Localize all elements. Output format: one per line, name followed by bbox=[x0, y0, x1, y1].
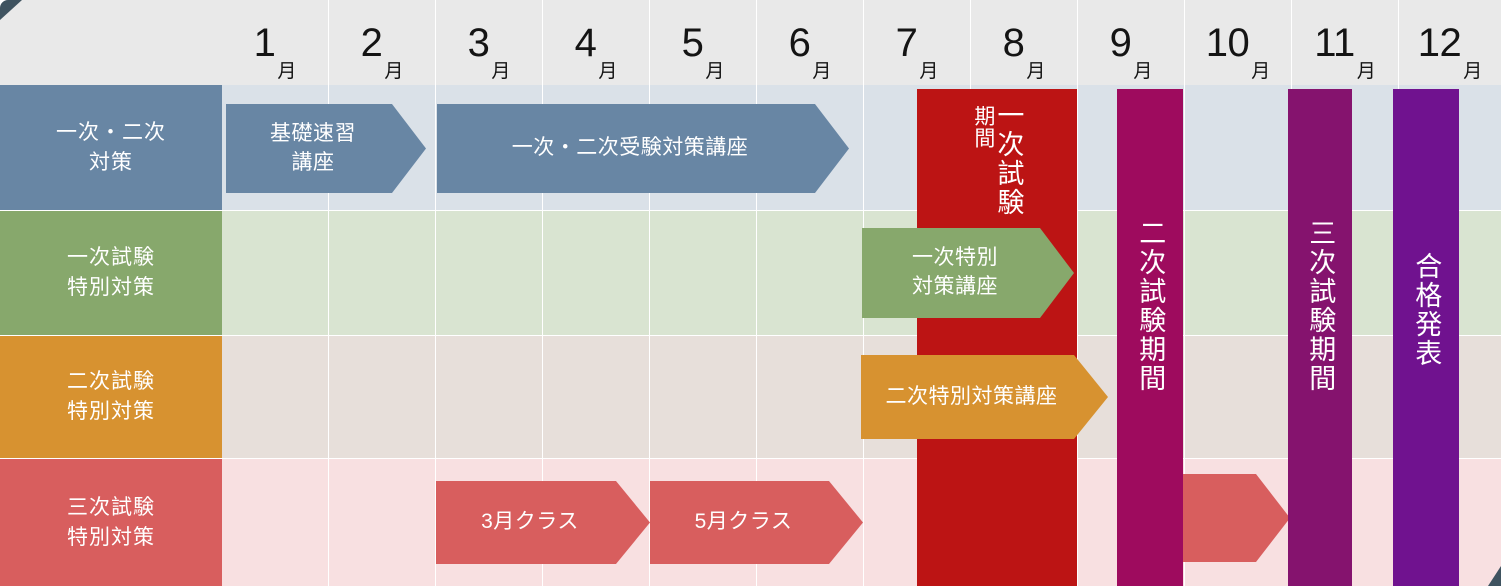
row-label-primary-secondary-prep: 一次・二次 対策 bbox=[0, 85, 222, 210]
row-labels-layer: 一次・二次 対策 一次試験 特別対策 二次試験 特別対策 三次試験 特別対策 bbox=[0, 0, 1501, 586]
row-label-line1: 三次試験 bbox=[67, 493, 155, 523]
exam-schedule-chart: 1 月 2 月 3 月 4 月 5 月 6 月 7 月 8 月 bbox=[0, 0, 1501, 586]
row-label-tertiary-exam-special: 三次試験 特別対策 bbox=[0, 459, 222, 586]
row-label-secondary-exam-special: 二次試験 特別対策 bbox=[0, 336, 222, 458]
row-label-line1: 一次・二次 bbox=[56, 118, 166, 148]
row-label-line2: 対策 bbox=[89, 148, 133, 178]
row-label-line1: 二次試験 bbox=[67, 367, 155, 397]
row-label-line2: 特別対策 bbox=[67, 523, 155, 553]
row-label-line1: 一次試験 bbox=[67, 243, 155, 273]
row-label-line2: 特別対策 bbox=[67, 273, 155, 303]
row-label-primary-exam-special: 一次試験 特別対策 bbox=[0, 211, 222, 335]
row-label-line2: 特別対策 bbox=[67, 397, 155, 427]
